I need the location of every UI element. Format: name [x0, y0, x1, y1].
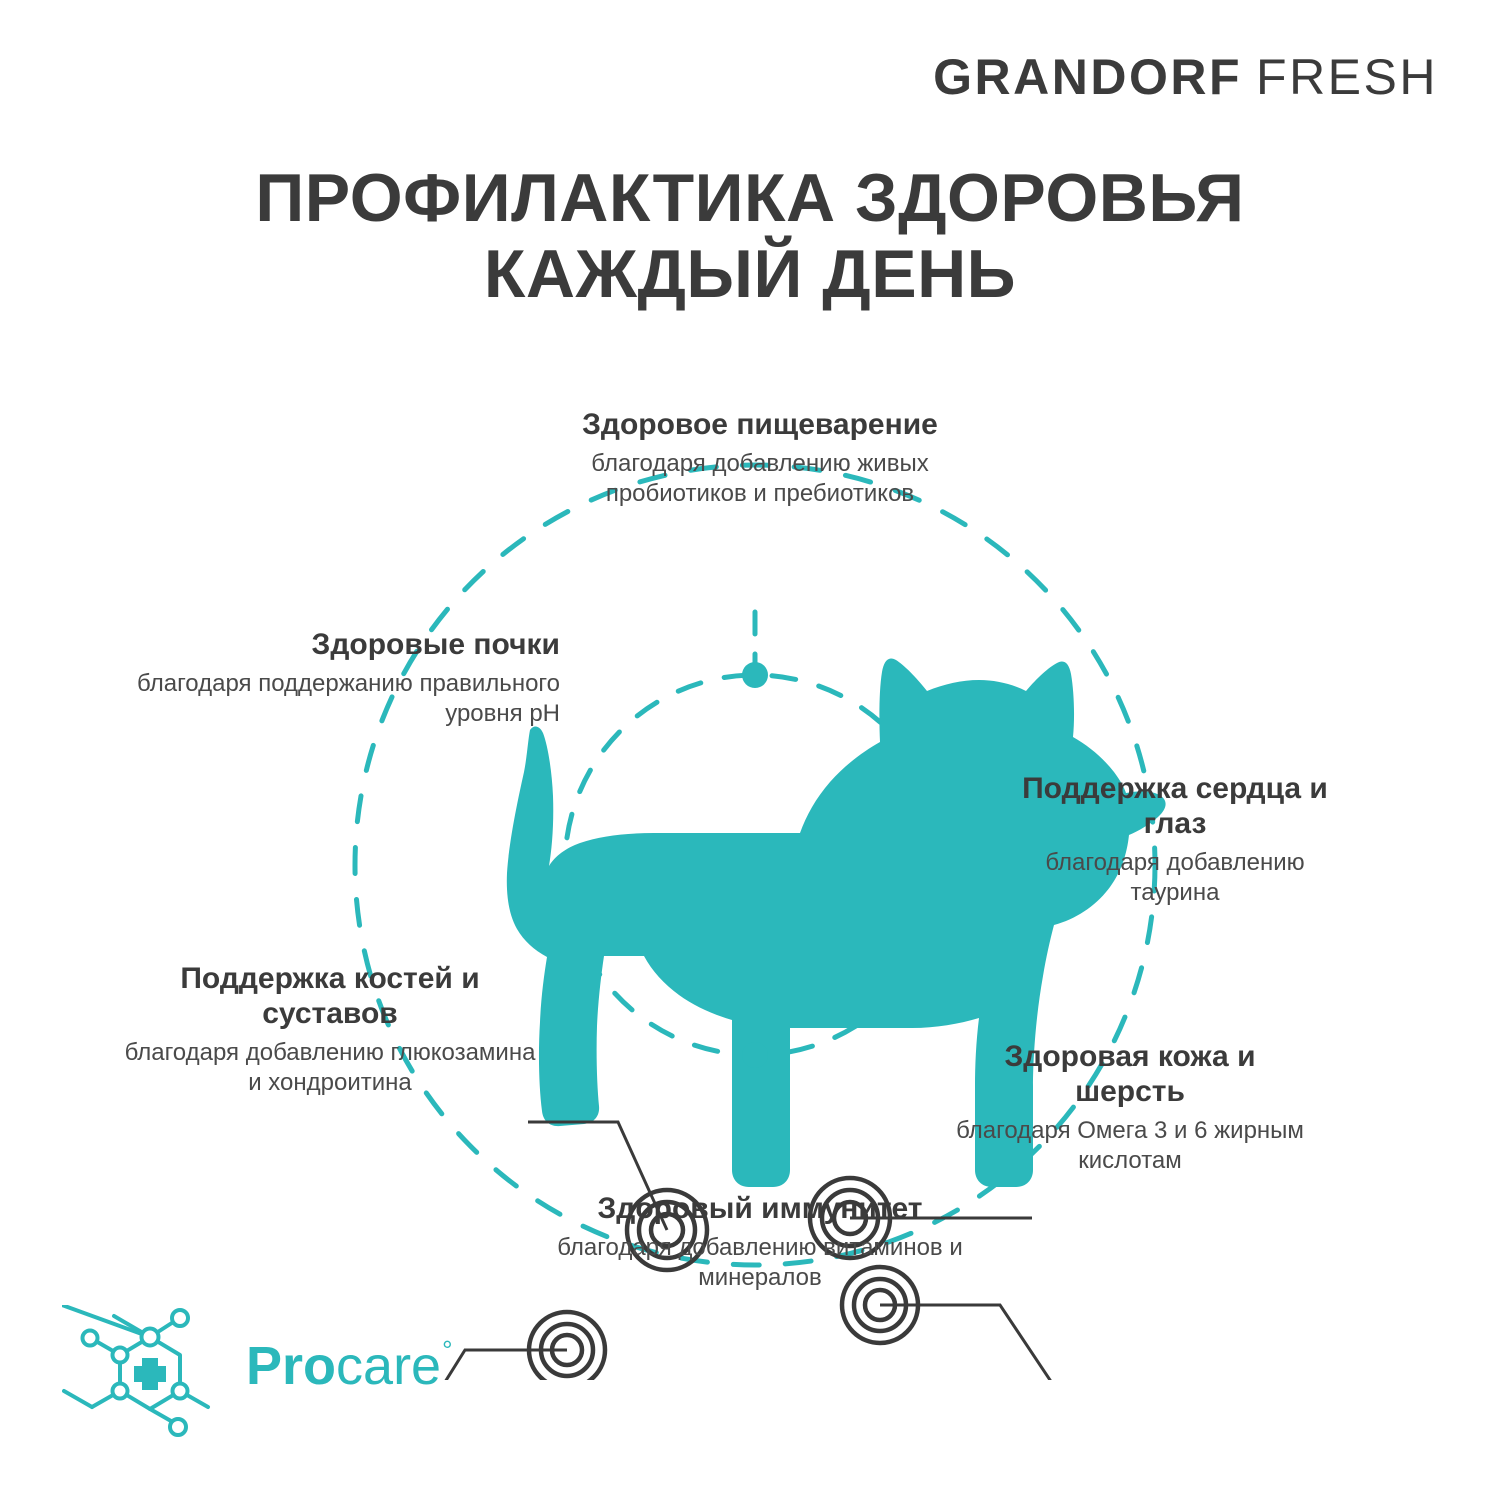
procare-logo: Procare° — [62, 1305, 422, 1445]
brand-name-bold: GRANDORF — [933, 49, 1242, 105]
callout-digestion-description: благодаря добавлению живых пробиотиков и… — [520, 449, 1000, 509]
procare-word-bold: Pro — [246, 1336, 336, 1396]
grandorf-fresh-logo: GRANDORFFRESH — [933, 52, 1438, 102]
callout-immunity-title: Здоровый иммунитет — [540, 1192, 980, 1227]
callout-joints-title: Поддержка костей и суставов — [120, 962, 540, 1032]
procare-degree-mark: ° — [442, 1335, 452, 1365]
page-title: ПРОФИЛАКТИКА ЗДОРОВЬЯ КАЖДЫЙ ДЕНЬ — [0, 160, 1500, 312]
page-title-line-1: ПРОФИЛАКТИКА ЗДОРОВЬЯ — [0, 160, 1500, 236]
procare-word-light: care — [336, 1336, 441, 1396]
procare-wordmark: Procare° — [246, 1339, 451, 1393]
callout-digestion-title: Здоровое пищеварение — [520, 408, 1000, 443]
callout-heart: Поддержка сердца и глаз благодаря добавл… — [1010, 772, 1340, 908]
callout-kidneys-description: благодаря поддержанию правильного уровня… — [130, 669, 560, 729]
page-title-line-2: КАЖДЫЙ ДЕНЬ — [0, 236, 1500, 312]
callout-joints-description: благодаря добавлению глюкозамина и хондр… — [120, 1038, 540, 1098]
callout-immunity-description: благодаря добавлению витаминов и минерал… — [540, 1233, 980, 1293]
leader-skin — [880, 1305, 1078, 1380]
dog-health-diagram: Здоровое пищеварение благодаря добавлени… — [0, 380, 1500, 1380]
callout-joints: Поддержка костей и суставов благодаря до… — [120, 962, 540, 1098]
callout-heart-description: благодаря добавлению таурина — [1010, 848, 1340, 908]
dot-top — [742, 662, 768, 688]
callout-kidneys-title: Здоровые почки — [130, 628, 560, 663]
callout-heart-title: Поддержка сердца и глаз — [1010, 772, 1340, 842]
callout-skin-title: Здоровая кожа и шерсть — [950, 1040, 1310, 1110]
callout-digestion: Здоровое пищеварение благодаря добавлени… — [520, 408, 1000, 509]
callout-skin: Здоровая кожа и шерсть благодаря Омега 3… — [950, 1040, 1310, 1176]
marker-joints — [529, 1312, 605, 1380]
dot-bottom — [742, 1042, 768, 1068]
callout-immunity: Здоровый иммунитет благодаря добавлению … — [540, 1192, 980, 1293]
callout-skin-description: благодаря Омега 3 и 6 жирным кислотам — [950, 1116, 1310, 1176]
brand-name-light: FRESH — [1256, 49, 1438, 105]
infographic-poster: GRANDORFFRESH ПРОФИЛАКТИКА ЗДОРОВЬЯ КАЖД… — [0, 0, 1500, 1500]
callout-kidneys: Здоровые почки благодаря поддержанию пра… — [130, 628, 560, 729]
